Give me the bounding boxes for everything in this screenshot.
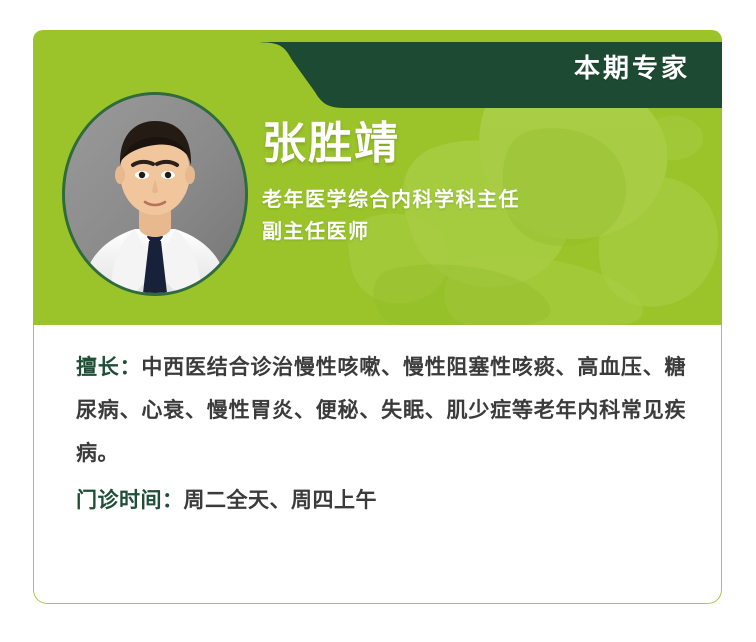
specialty-label: 擅长 — [76, 356, 120, 379]
clinic-label: 门诊时间 — [76, 489, 162, 512]
banner-title: 本期专家 — [34, 44, 723, 92]
card-body: 擅长：中西医结合诊治慢性咳嗽、慢性阻塞性咳痰、高血压、糖尿病、心衰、慢性胃炎、便… — [76, 346, 686, 522]
doctor-title-line-1: 老年医学综合内科学科主任 — [262, 184, 692, 216]
doctor-info-block: 张胜靖 老年医学综合内科学科主任 副主任医师 — [262, 118, 692, 248]
specialty-paragraph: 擅长：中西医结合诊治慢性咳嗽、慢性阻塞性咳痰、高血压、糖尿病、心衰、慢性胃炎、便… — [76, 346, 686, 475]
clinic-separator: ： — [162, 489, 184, 512]
expert-profile-card: 本期专家 — [0, 0, 756, 642]
clinic-paragraph: 门诊时间：周二全天、周四上午 — [76, 479, 686, 522]
doctor-portrait — [62, 92, 248, 296]
doctor-title-line-2: 副主任医师 — [262, 216, 692, 248]
clinic-text: 周二全天、周四上午 — [184, 489, 378, 512]
specialty-separator: ： — [120, 356, 142, 379]
specialty-text: 中西医结合诊治慢性咳嗽、慢性阻塞性咳痰、高血压、糖尿病、心衰、慢性胃炎、便秘、失… — [76, 356, 686, 465]
doctor-name: 张胜靖 — [262, 118, 692, 170]
